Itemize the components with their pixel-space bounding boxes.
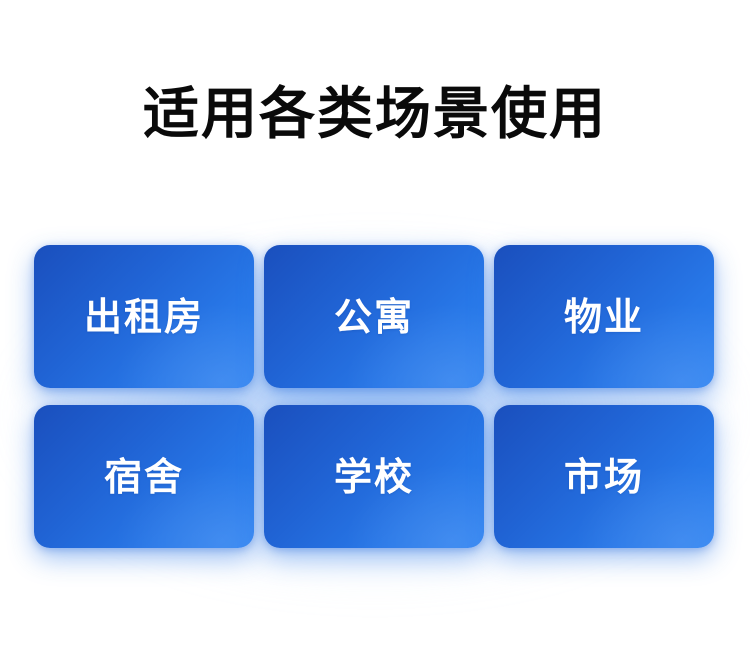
scenario-card-property-management[interactable]: 物业	[494, 245, 714, 388]
page-title: 适用各类场景使用	[143, 87, 607, 143]
scenario-card-rental-house[interactable]: 出租房	[34, 245, 254, 388]
scenario-card-dormitory[interactable]: 宿舍	[34, 405, 254, 548]
scenario-card-market[interactable]: 市场	[494, 405, 714, 548]
scenario-card-label: 出租房	[84, 298, 204, 336]
scenario-card-label: 物业	[564, 298, 644, 336]
scenario-card-label: 学校	[334, 458, 414, 496]
scenario-card-label: 公寓	[334, 298, 414, 336]
scenario-card-label: 宿舍	[104, 458, 184, 496]
scenario-card-apartment[interactable]: 公寓	[264, 245, 484, 388]
page-title-container: 适用各类场景使用	[0, 0, 750, 230]
scenario-showcase-page: 适用各类场景使用 出租房 公寓 物业 宿舍 学校 市场	[0, 0, 750, 650]
scenario-card-school[interactable]: 学校	[264, 405, 484, 548]
scenario-card-grid: 出租房 公寓 物业 宿舍 学校 市场	[34, 245, 714, 548]
scenario-card-label: 市场	[564, 458, 644, 496]
